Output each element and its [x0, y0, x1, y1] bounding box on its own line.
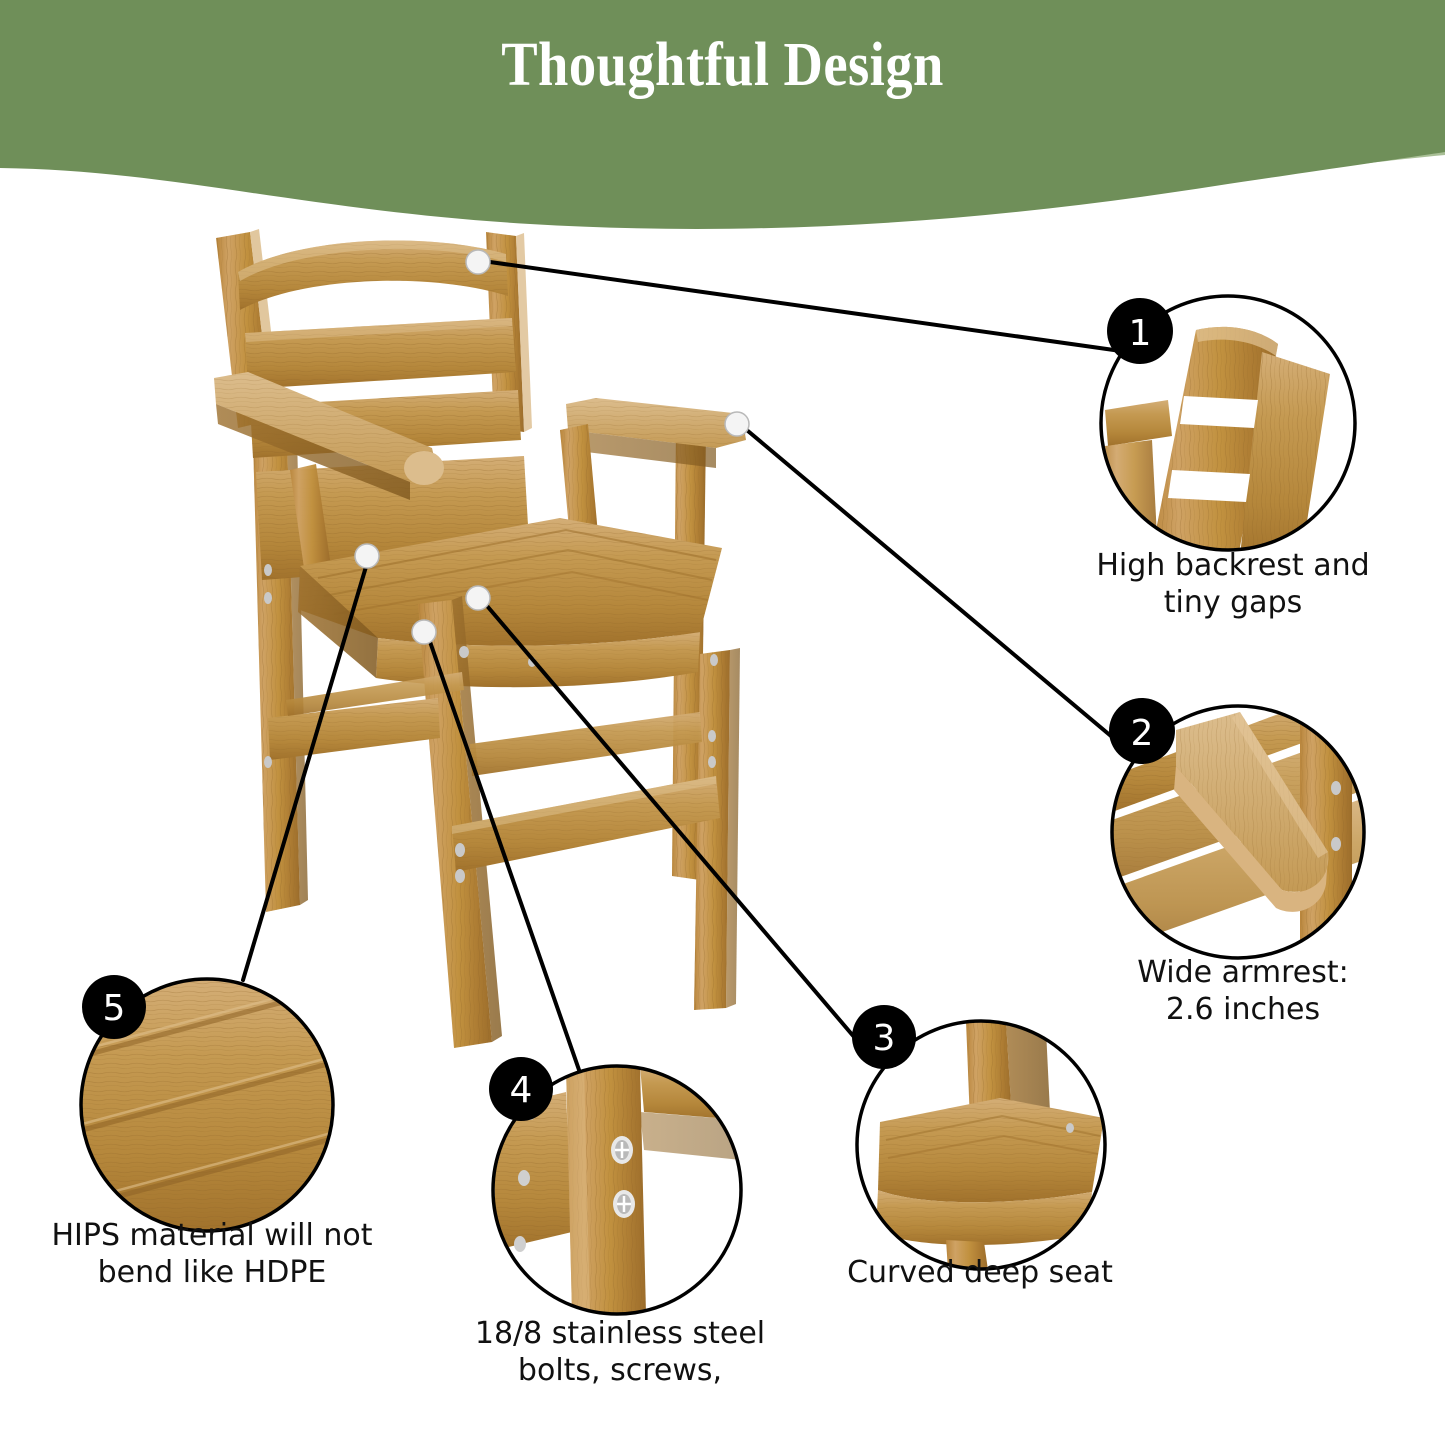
- chair-right-armrest: [566, 398, 746, 468]
- callout-2-number: 2: [1131, 713, 1154, 754]
- callout-1-number: 1: [1129, 313, 1152, 354]
- hotspot-5: [355, 544, 379, 568]
- callout-2-caption: Wide armrest: 2.6 inches: [1058, 955, 1428, 1028]
- callout-3-caption: Curved deep seat: [790, 1255, 1170, 1292]
- callout-4-caption: 18/8 stainless steel bolts, screws,: [420, 1316, 820, 1389]
- callout-5-caption: HIPS material will not bend like HDPE: [12, 1218, 412, 1291]
- page-title: Thoughtful Design: [87, 30, 1359, 101]
- callout-1-caption: High backrest and tiny gaps: [1048, 548, 1418, 621]
- callout-5-number: 5: [103, 988, 126, 1029]
- chair-illustration: [214, 229, 746, 1048]
- hotspot-1: [466, 250, 490, 274]
- callout-1-badge: 1: [1107, 298, 1173, 364]
- hotspot-3: [466, 586, 490, 610]
- callout-2-badge: 2: [1109, 698, 1175, 764]
- chair-top-rail: [238, 240, 508, 310]
- chair-front-right-leg: [694, 648, 740, 1010]
- callout-3-number: 3: [873, 1018, 896, 1059]
- callout-3-badge: 3: [852, 1005, 916, 1069]
- leader-line-1: [490, 262, 1128, 352]
- chair-back-slat-middle: [245, 318, 516, 389]
- infographic-canvas: Thoughtful Design: [0, 0, 1445, 1445]
- hotspot-4: [412, 620, 436, 644]
- callout-5-badge: 5: [82, 975, 146, 1039]
- hotspot-2: [725, 412, 749, 436]
- callout-4-badge: 4: [489, 1057, 553, 1121]
- callout-4-number: 4: [510, 1070, 533, 1111]
